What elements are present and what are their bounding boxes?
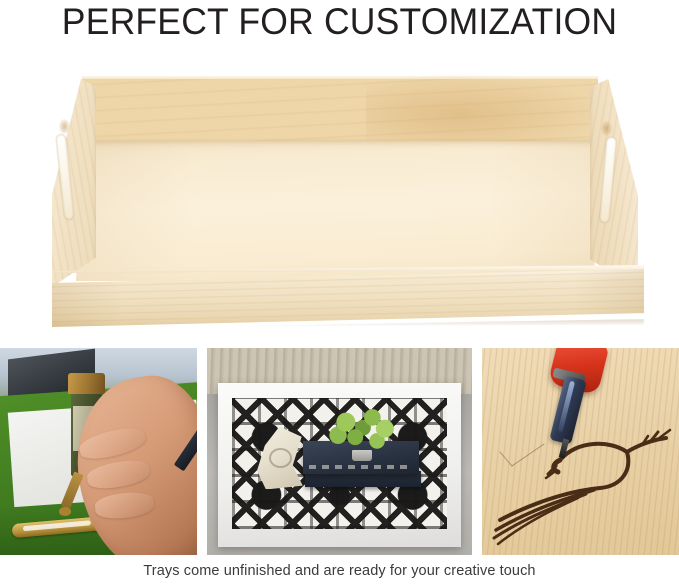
tray-back-wall	[82, 79, 598, 143]
white-tray	[218, 383, 462, 547]
green-plant	[324, 408, 401, 455]
paint-bottle-cap	[68, 373, 105, 394]
thumbnail-strip	[0, 348, 679, 555]
wooden-tray	[30, 71, 650, 321]
page-title: PERFECT FOR CUSTOMIZATION	[14, 0, 666, 44]
tray-left-side-wall	[52, 77, 96, 287]
thumbnail-stenciled-tray	[207, 348, 472, 555]
gold-paint-dab	[59, 507, 71, 515]
hero-image	[0, 46, 679, 336]
tray-left-handle-knot	[59, 119, 70, 134]
caption-text: Trays come unfinished and are ready for …	[0, 556, 679, 585]
thumbnail-painting-tray	[0, 348, 197, 555]
white-tray-interior	[232, 398, 447, 529]
book-title-lettering	[309, 465, 412, 469]
tray-interior-floor	[76, 141, 604, 281]
product-feature-image: PERFECT FOR CUSTOMIZATION	[0, 0, 679, 585]
tray-right-handle-knot	[601, 121, 612, 136]
tray-right-side-wall	[590, 77, 638, 289]
thumbnail-wood-burning	[482, 348, 679, 555]
